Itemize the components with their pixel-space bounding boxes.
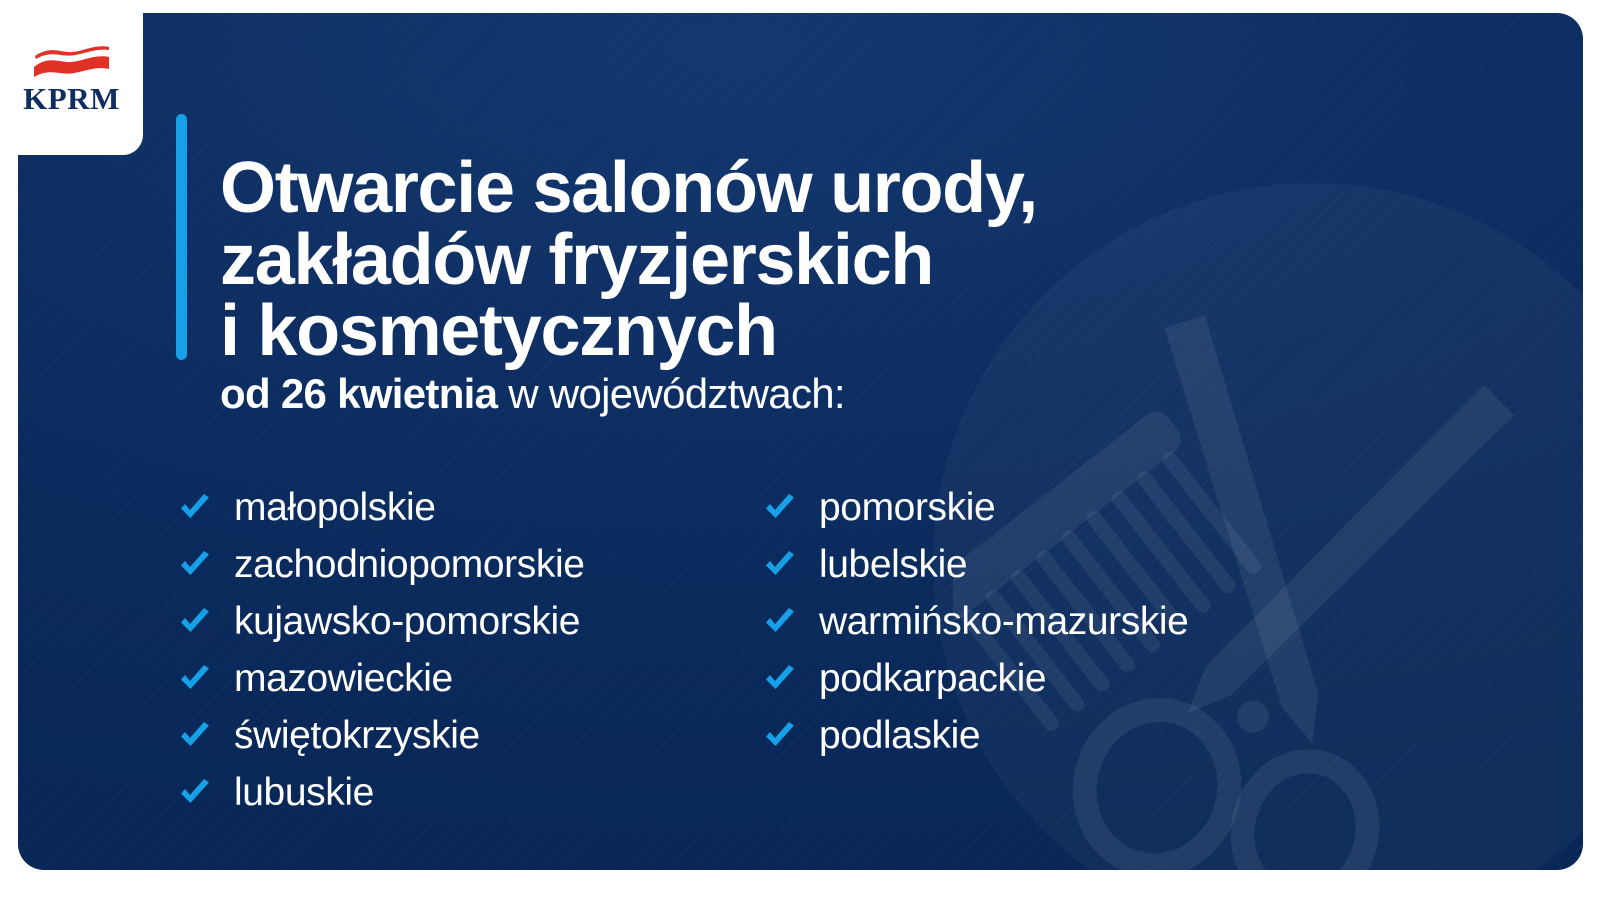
list-item: lubelskie: [763, 536, 1188, 593]
list-item: podlaskie: [763, 707, 1188, 764]
headline-line-1: Otwarcie salonów urody,: [220, 153, 1320, 225]
polish-flag-wave-icon: [31, 41, 113, 81]
list-item-label: mazowieckie: [234, 659, 453, 698]
list-item-label: świętokrzyskie: [234, 716, 480, 755]
subtitle-date: od 26 kwietnia: [220, 370, 497, 417]
list-item: małopolskie: [178, 479, 585, 536]
list-item: podkarpackie: [763, 650, 1188, 707]
check-icon: [178, 548, 212, 582]
list-item: zachodniopomorskie: [178, 536, 585, 593]
kprm-logo: KPRM: [0, 0, 143, 155]
list-item-label: małopolskie: [234, 488, 436, 527]
subtitle: od 26 kwietnia w województwach:: [220, 373, 845, 415]
voivodeship-list-left: małopolskie zachodniopomorskie kujawsko-…: [178, 479, 585, 821]
voivodeship-list-right: pomorskie lubelskie warmińsko-mazurskie …: [763, 479, 1188, 764]
check-icon: [178, 719, 212, 753]
accent-bar: [176, 114, 187, 360]
list-item-label: kujawsko-pomorskie: [234, 602, 580, 641]
list-item-label: pomorskie: [819, 488, 995, 527]
check-icon: [178, 662, 212, 696]
list-item-label: podkarpackie: [819, 659, 1046, 698]
list-item-label: lubelskie: [819, 545, 967, 584]
headline-line-3: i kosmetycznych: [220, 296, 1320, 368]
list-item: warmińsko-mazurskie: [763, 593, 1188, 650]
check-icon: [178, 605, 212, 639]
list-item-label: warmińsko-mazurskie: [819, 602, 1188, 641]
list-item: lubuskie: [178, 764, 585, 821]
subtitle-rest: w województwach:: [497, 370, 845, 417]
check-icon: [763, 548, 797, 582]
page-title: Otwarcie salonów urody, zakładów fryzjer…: [220, 153, 1320, 368]
check-icon: [178, 776, 212, 810]
check-icon: [763, 662, 797, 696]
list-item-label: podlaskie: [819, 716, 980, 755]
list-item: mazowieckie: [178, 650, 585, 707]
headline-line-2: zakładów fryzjerskich: [220, 225, 1320, 297]
list-item-label: lubuskie: [234, 773, 374, 812]
check-icon: [763, 491, 797, 525]
list-item: pomorskie: [763, 479, 1188, 536]
list-item: świętokrzyskie: [178, 707, 585, 764]
check-icon: [763, 719, 797, 753]
check-icon: [763, 605, 797, 639]
check-icon: [178, 491, 212, 525]
list-item-label: zachodniopomorskie: [234, 545, 585, 584]
kprm-logo-text: KPRM: [23, 83, 120, 114]
poster-panel: Otwarcie salonów urody, zakładów fryzjer…: [18, 13, 1583, 870]
list-item: kujawsko-pomorskie: [178, 593, 585, 650]
